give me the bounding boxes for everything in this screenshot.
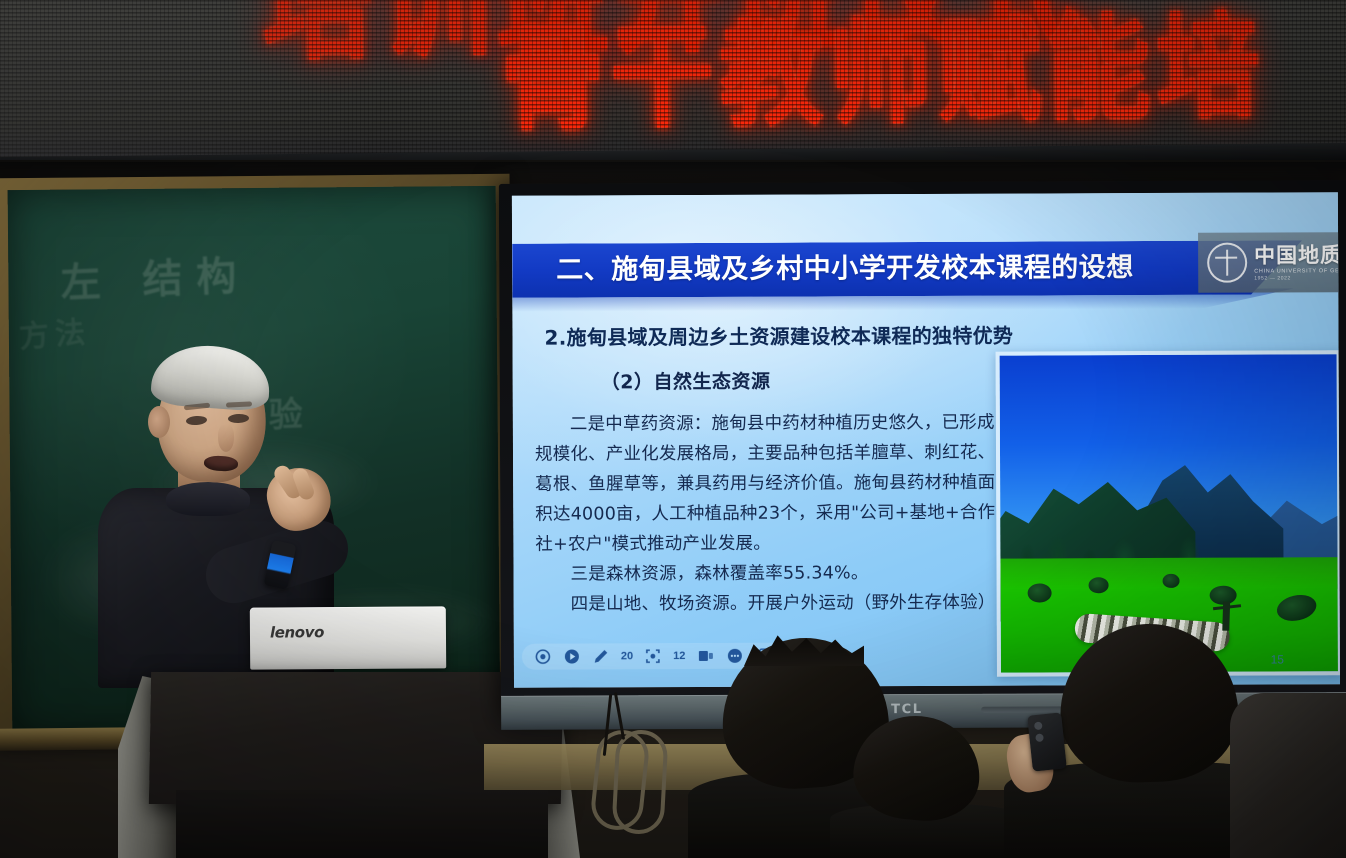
zoom-slide-icon[interactable] <box>644 647 662 665</box>
slide-paragraph: 三是森林资源，森林覆盖率55.34%。 <box>535 558 1005 590</box>
slide-section-title: 二、施甸县域及乡村中小学开发校本课程的设想 <box>556 249 1256 290</box>
presentation-slide[interactable]: 二、施甸县域及乡村中小学开发校本课程的设想 中国地质大学 CHINA UNIVE… <box>512 192 1340 688</box>
university-seal-icon <box>1207 243 1247 283</box>
slide-body-text: 二是中草药资源：施甸县中药材种植历史悠久，已形成规模化、产业化发展格局，主要品种… <box>535 408 1006 620</box>
play-icon[interactable] <box>563 648 581 666</box>
photo-shrub <box>1162 574 1179 588</box>
laser-pointer-icon[interactable] <box>534 648 552 666</box>
audience-member <box>840 740 1010 858</box>
zoom-level-label: 12 <box>673 650 685 662</box>
podium-body <box>176 790 548 858</box>
speaker-hair <box>150 342 272 412</box>
chair-rail <box>611 729 668 836</box>
lecture-hall-photo: 培训班开班仪式 骨干教师赋能培 左 结构 经验 方法 <box>0 0 1346 858</box>
speaker-nose <box>218 424 234 452</box>
speaker-collar <box>166 482 250 516</box>
photo-shrub <box>1088 577 1108 593</box>
audience-member <box>1230 693 1346 858</box>
screen-glare <box>512 192 967 442</box>
university-name-cn: 中国地质大学 <box>1254 243 1340 266</box>
tcl-display: 二、施甸县域及乡村中小学开发校本课程的设想 中国地质大学 CHINA UNIVE… <box>499 180 1346 724</box>
pen-size-label: 20 <box>621 650 633 662</box>
pen-icon[interactable] <box>592 647 610 665</box>
photo-shrub <box>1028 584 1052 603</box>
slide-paragraph: 二是中草药资源：施甸县中药材种植历史悠久，已形成规模化、产业化发展格局，主要品种… <box>535 408 1006 560</box>
led-banner: 培训班开班仪式 骨干教师赋能培 <box>0 0 1346 166</box>
lenovo-laptop: lenovo <box>250 606 446 669</box>
chalk-writing: 左 结构 <box>59 243 251 309</box>
smartphone <box>1027 712 1067 771</box>
slide-paragraph: 四是山地、牧场资源。开展户外运动（野外生存体验） <box>536 588 1006 620</box>
slide-subtitle: 2.施甸县域及周边乡土资源建设校本课程的独特优势 <box>544 320 1013 351</box>
university-name-en: CHINA UNIVERSITY OF GEOSCIENCES <box>1254 267 1340 274</box>
speaker-ear <box>148 406 170 438</box>
university-logo: 中国地质大学 CHINA UNIVERSITY OF GEOSCIENCES 1… <box>1198 232 1340 293</box>
chalk-writing: 方法 <box>17 307 92 357</box>
more-options-icon[interactable] <box>725 647 743 665</box>
display-screen[interactable]: 二、施甸县域及乡村中小学开发校本课程的设想 中国地质大学 CHINA UNIVE… <box>512 192 1340 688</box>
slide-section-heading: （2）自然生态资源 <box>601 367 771 395</box>
audience-body <box>1230 693 1346 858</box>
chair-backrest <box>592 740 668 858</box>
photo-shepherd <box>1223 602 1231 631</box>
university-anniversary: 1952 — 2022 <box>1254 274 1340 281</box>
slide-thumbnail-icon[interactable] <box>696 647 714 665</box>
phone-camera-icon <box>1034 721 1043 730</box>
laptop-brand-label: lenovo <box>270 623 324 641</box>
